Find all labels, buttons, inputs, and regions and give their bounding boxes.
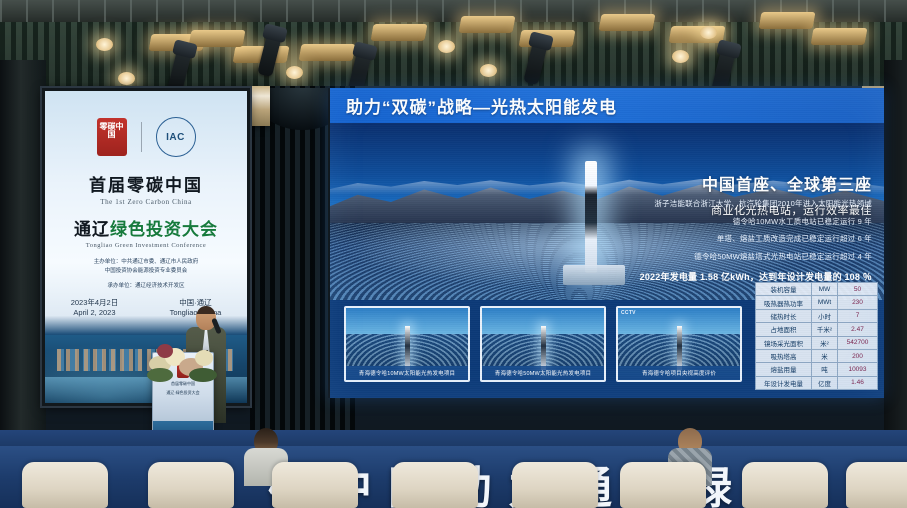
spec-value: 50 <box>838 283 878 296</box>
poster-subtitle-en: Tongliao Green Investment Conference <box>45 242 247 249</box>
spec-name: 熔盐用量 <box>756 363 812 376</box>
stage-light-icon <box>189 30 246 47</box>
spec-value: 7 <box>838 309 878 322</box>
table-row: 吸热器热功率 MWt 230 <box>756 296 878 309</box>
table-row: 熔盐用量 吨 10093 <box>756 363 878 376</box>
spec-unit: 亿度 <box>812 376 838 389</box>
slide-thumbnail-row: 青海德令哈10MW太阳能光热发电项目 青海德令哈50MW太阳能光热发电项目 CC… <box>344 306 742 382</box>
spec-name: 吸热塔高 <box>756 349 812 362</box>
slide-headline: 中国首座、全球第三座 <box>702 171 872 195</box>
spec-value: 1.46 <box>838 376 878 389</box>
audience-chair <box>742 462 828 508</box>
spec-unit: 米 <box>812 349 838 362</box>
stage-light-icon <box>459 16 516 33</box>
table-row: 装机容量 MW 50 <box>756 283 878 296</box>
thumbnail-caption: 青海德令哈10MW太阳能光热发电项目 <box>346 366 468 380</box>
audience-chair <box>148 462 234 508</box>
stage-light-icon <box>96 38 113 51</box>
audience-chair <box>620 462 706 508</box>
stage-light-icon <box>286 66 303 79</box>
bullet-item: 浙子洁能联合浙江大学、杭汽轮集团2010年进入太阳能光热领域 <box>640 198 872 209</box>
stage-light-icon <box>371 24 428 41</box>
foliage-icon <box>147 368 173 382</box>
table-row: 储热时长 小时 7 <box>756 309 878 322</box>
table-row: 吸热塔高 米 200 <box>756 349 878 362</box>
spec-value: 2.47 <box>838 323 878 336</box>
spec-unit: 千米² <box>812 323 838 336</box>
thumb-solar-tower-icon <box>541 326 546 370</box>
stage-light-icon <box>118 72 135 85</box>
stage-light-icon <box>669 26 726 43</box>
pillar-right <box>884 60 907 450</box>
spec-unit: 小时 <box>812 309 838 322</box>
spec-name: 装机容量 <box>756 283 812 296</box>
podium-placard-line-2: 通辽·绿色投资大会 <box>162 390 204 396</box>
poster-host: 承办单位：通辽经济技术开发区 <box>45 281 247 289</box>
spec-value: 542700 <box>838 336 878 349</box>
bullet-item: 单塔、熔盐工质改造完成已稳定运行超过 6 年 <box>640 233 872 244</box>
cctv-logo-icon: CCTV <box>621 310 636 316</box>
tower-base <box>563 265 625 285</box>
iac-logo-icon: IAC <box>156 117 196 157</box>
solar-tower-icon <box>585 161 597 273</box>
flower-arrangement <box>143 342 229 384</box>
thumb-solar-tower-icon <box>677 326 682 370</box>
thumbnail-image: CCTV 青海德令哈项目央视高度评价 <box>616 306 742 382</box>
stage-light-icon <box>599 14 656 31</box>
spec-name: 储热时长 <box>756 309 812 322</box>
table-row: 年设计发电量 亿度 1.46 <box>756 376 878 389</box>
slide-highlight-stat: 2022年发电量 1.58 亿kWh，达到年设计发电量的 108 ％ <box>640 270 872 283</box>
slide-title: 助力“双碳”战略—光热太阳能发电 <box>346 93 617 118</box>
poster-organizers: 主办单位：中共通辽市委、通辽市人民政府 中国投资协会能源投资专业委员会 <box>45 258 247 276</box>
spec-table: 装机容量 MW 50 吸热器热功率 MWt 230 储热时长 小时 7 <box>755 282 878 390</box>
poster-place-cn: 中国·通辽 <box>170 298 222 308</box>
slide: 助力“双碳”战略—光热太阳能发电 中国首座、全球第三座 商业化光热电站，运行效率… <box>330 88 884 398</box>
thumbnail-image: 青海德令哈10MW太阳能光热发电项目 <box>344 306 470 382</box>
stage-light-icon <box>700 26 717 39</box>
poster-title-en: The 1st Zero Carbon China <box>45 198 247 206</box>
stage-light-icon <box>811 28 868 45</box>
spec-name: 吸热器热功率 <box>756 296 812 309</box>
slide-title-bar: 助力“双碳”战略—光热太阳能发电 <box>330 88 884 123</box>
poster-subtitle-city: 通辽 <box>74 220 110 239</box>
poster-date: 2023年4月2日 April 2, 2023 <box>71 298 119 318</box>
spec-name: 年设计发电量 <box>756 376 812 389</box>
bullet-item: 德令哈50MW熔盐塔式光热电站已稳定运行超过 4 年 <box>640 251 872 262</box>
poster-date-cn: 2023年4月2日 <box>71 298 119 308</box>
flower-icon <box>157 344 173 358</box>
logo-divider <box>141 122 142 152</box>
upper-curtain <box>0 22 907 94</box>
poster-logos: 零碳中国 IAC <box>45 117 247 157</box>
stage-light-icon <box>759 12 816 29</box>
thumbnail-caption: 青海德令哈50MW太阳能光热发电项目 <box>482 366 604 380</box>
table-row: 占地面积 千米² 2.47 <box>756 323 878 336</box>
thumb-solar-tower-icon <box>405 326 410 370</box>
poster-footer: 2023年4月2日 April 2, 2023 中国·通辽 Tongliao, … <box>45 298 247 318</box>
foliage-icon <box>189 368 217 382</box>
audience-chair <box>272 462 358 508</box>
zero-carbon-seal-icon: 零碳中国 <box>97 118 127 156</box>
poster-date-en: April 2, 2023 <box>71 308 119 318</box>
spec-value: 10093 <box>838 363 878 376</box>
spec-value: 200 <box>838 349 878 362</box>
spec-unit: 吨 <box>812 363 838 376</box>
bullet-item: 德令哈10MW水工质电站已稳定运行 9 年 <box>640 216 872 227</box>
spec-unit: MW <box>812 283 838 296</box>
audience-chair <box>22 462 108 508</box>
audience-chair <box>512 462 598 508</box>
stage-light-icon <box>480 64 497 77</box>
spec-name: 镜场采光面积 <box>756 336 812 349</box>
spec-value: 230 <box>838 296 878 309</box>
audience-chair <box>392 462 478 508</box>
spec-unit: 米² <box>812 336 838 349</box>
spec-name: 占地面积 <box>756 323 812 336</box>
spec-table-body: 装机容量 MW 50 吸热器热功率 MWt 230 储热时长 小时 7 <box>756 283 878 390</box>
slide-bullets: 浙子洁能联合浙江大学、杭汽轮集团2010年进入太阳能光热领域 德令哈10MW水工… <box>640 198 872 289</box>
table-row: 镜场采光面积 米² 542700 <box>756 336 878 349</box>
flower-icon <box>195 350 213 366</box>
poster-subtitle-cn: 通辽绿色投资大会 <box>45 215 247 240</box>
audience-chair <box>846 462 907 508</box>
thumbnail-caption: 青海德令哈项目央视高度评价 <box>618 366 740 380</box>
stage-light-icon <box>672 50 689 63</box>
poster-subtitle-rest: 绿色投资大会 <box>110 220 218 239</box>
organizer-line-2: 中国投资协会能源投资专业委员会 <box>45 267 247 276</box>
pillar-left <box>0 60 46 450</box>
thumbnail-image: 青海德令哈50MW太阳能光热发电项目 <box>480 306 606 382</box>
stage-light-icon <box>299 44 356 61</box>
spec-unit: MWt <box>812 296 838 309</box>
presentation-screen: 助力“双碳”战略—光热太阳能发电 中国首座、全球第三座 商业化光热电站，运行效率… <box>328 88 884 398</box>
conference-photo: 零碳中国 IAC 首届零碳中国 The 1st Zero Carbon Chin… <box>0 0 907 508</box>
organizer-line-1: 主办单位：中共通辽市委、通辽市人民政府 <box>45 258 247 267</box>
stage-light-icon <box>438 40 455 53</box>
poster-title-cn: 首届零碳中国 <box>45 171 247 196</box>
